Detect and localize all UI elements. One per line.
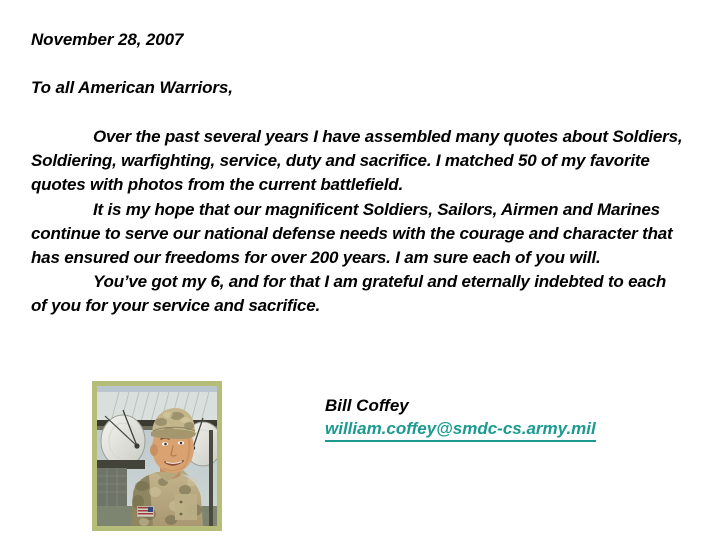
letter-date: November 28, 2007 (31, 28, 683, 52)
author-photo (97, 386, 217, 526)
letter-paragraph-1: Over the past several years I have assem… (31, 125, 683, 198)
letter-body: November 28, 2007 To all American Warrio… (31, 28, 683, 319)
signature-email-link[interactable]: william.coffey@smdc-cs.army.mil (325, 417, 596, 442)
slide-canvas: November 28, 2007 To all American Warrio… (0, 0, 728, 546)
letter-paragraph-3: You’ve got my 6, and for that I am grate… (31, 270, 683, 318)
letter-paragraph-2: It is my hope that our magnificent Soldi… (31, 198, 683, 271)
letter-salutation: To all American Warriors, (31, 76, 683, 100)
signature-block: Bill Coffey william.coffey@smdc-cs.army.… (325, 394, 596, 442)
author-photo-frame (92, 381, 222, 531)
signature-name: Bill Coffey (325, 394, 596, 417)
soldier-portrait-illustration (97, 386, 217, 526)
